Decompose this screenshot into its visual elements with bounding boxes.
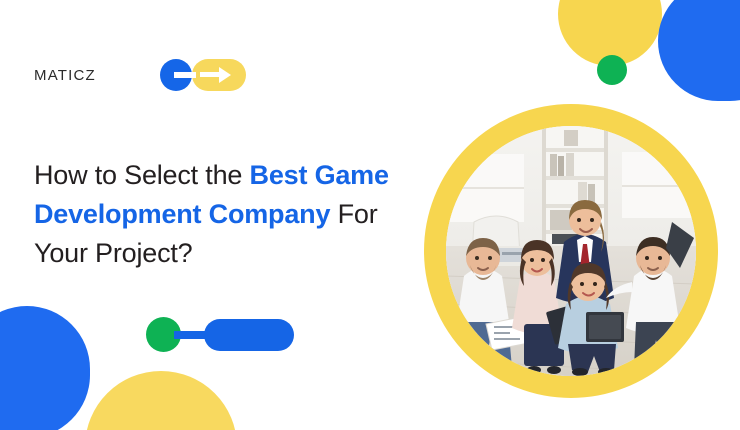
brand-wordmark: MATICZ xyxy=(34,67,96,84)
logo-arrow-head-icon xyxy=(219,67,231,83)
yellow-circle-bottom-left-shape xyxy=(85,371,237,430)
headline: How to Select the Best Game Development … xyxy=(34,156,404,273)
brand-logo: MATICZ xyxy=(34,58,246,92)
team-photo xyxy=(446,126,696,376)
logo-circle-notch xyxy=(174,72,196,78)
blue-blob-bottom-left-shape xyxy=(0,306,90,430)
blue-blob-top-right-shape xyxy=(658,0,740,101)
team-photo-frame xyxy=(424,104,718,398)
headline-part-accent-3: Company xyxy=(209,199,331,229)
headline-part-plain-1: How to Select the xyxy=(34,160,250,190)
promo-banner: MATICZ How to Select the Best Game Devel… xyxy=(0,0,740,430)
blue-pill-shape xyxy=(204,319,294,351)
green-dot-top-right-shape xyxy=(597,55,627,85)
team-photo-illustration xyxy=(446,126,696,376)
headline-part-accent-1: Best xyxy=(250,160,308,190)
maticz-arrow-logo-icon xyxy=(160,58,246,92)
